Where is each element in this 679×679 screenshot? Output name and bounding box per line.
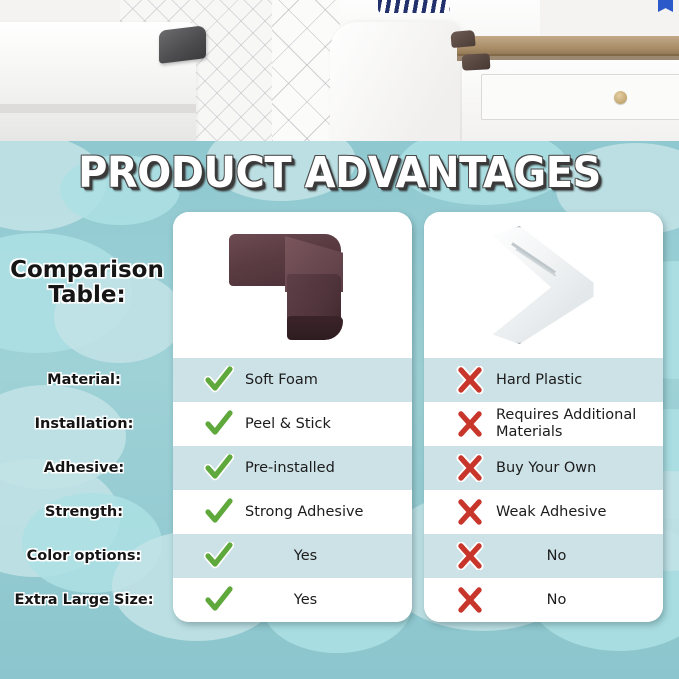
table-row: Strong Adhesive (173, 490, 412, 534)
red-cross-icon (450, 542, 490, 570)
cell-value: Hard Plastic (490, 372, 582, 389)
table-row: Yes (173, 534, 412, 578)
row-label-column: Material: Installation: Adhesive: Streng… (0, 358, 168, 622)
cell-value: Peel & Stick (239, 416, 331, 433)
cell-value: Requires Additional Materials (490, 407, 663, 440)
table-row: Yes (173, 578, 412, 622)
table-row: Peel & Stick (173, 402, 412, 446)
wooden-table-top (457, 36, 679, 56)
comparison-card-theirs: Hard Plastic Requires Additional Materia… (424, 212, 663, 622)
table-row: Soft Foam (173, 358, 412, 402)
value-rows-theirs: Hard Plastic Requires Additional Materia… (424, 358, 663, 622)
row-label-color-options: Color options: (0, 534, 168, 578)
installed-corner-guard-brown-top (450, 30, 475, 48)
row-label-material: Material: (0, 358, 168, 402)
red-cross-icon (450, 586, 490, 614)
row-label-strength: Strength: (0, 490, 168, 534)
row-label-installation: Installation: (0, 402, 168, 446)
cell-value: Pre-installed (239, 460, 335, 477)
cell-value: Yes (239, 592, 412, 609)
lifestyle-photo-band (0, 0, 679, 141)
clear-plastic-corner-guard-illustration (486, 226, 598, 344)
green-check-icon (199, 366, 239, 394)
table-row: Pre-installed (173, 446, 412, 490)
cabinet-drawer (481, 74, 679, 120)
drawer-knob (614, 91, 627, 104)
cell-value: No (490, 592, 663, 609)
blue-badge-icon (658, 0, 673, 12)
page-title: PRODUCT ADVANTAGES (24, 148, 655, 198)
comparison-table-heading: Comparison Table: (4, 258, 170, 308)
cell-value: Strong Adhesive (239, 504, 363, 521)
table-row: No (424, 578, 663, 622)
cell-value: Soft Foam (239, 372, 318, 389)
green-check-icon (199, 498, 239, 526)
table-row: Weak Adhesive (424, 490, 663, 534)
product-advantages-infographic: PRODUCT ADVANTAGES Comparison Table: Mat… (0, 0, 679, 679)
comparison-card-ours: Soft Foam Peel & Stick (173, 212, 412, 622)
green-check-icon (199, 454, 239, 482)
table-row: No (424, 534, 663, 578)
striped-pillow (378, 0, 450, 13)
table-row: Hard Plastic (424, 358, 663, 402)
cell-value: Weak Adhesive (490, 504, 606, 521)
brown-foam-corner-guard-illustration (229, 230, 349, 342)
white-table-left-edge (0, 104, 196, 113)
cell-value: No (490, 548, 663, 565)
product-image-plastic-corner-guard (424, 212, 663, 358)
red-cross-icon (450, 410, 490, 438)
red-cross-icon (450, 454, 490, 482)
value-rows-ours: Soft Foam Peel & Stick (173, 358, 412, 622)
green-check-icon (199, 410, 239, 438)
green-check-icon (199, 542, 239, 570)
table-row: Buy Your Own (424, 446, 663, 490)
cell-value: Buy Your Own (490, 460, 596, 477)
installed-corner-guard-grey (159, 25, 206, 64)
red-cross-icon (450, 366, 490, 394)
cell-value: Yes (239, 548, 412, 565)
sofa-armrest (330, 22, 460, 141)
red-cross-icon (450, 498, 490, 526)
row-label-adhesive: Adhesive: (0, 446, 168, 490)
product-image-foam-corner-guard (173, 212, 412, 358)
table-row: Requires Additional Materials (424, 402, 663, 446)
green-check-icon (199, 586, 239, 614)
installed-corner-guard-brown-bottom (462, 53, 491, 70)
row-label-extra-large-size: Extra Large Size: (0, 578, 168, 622)
